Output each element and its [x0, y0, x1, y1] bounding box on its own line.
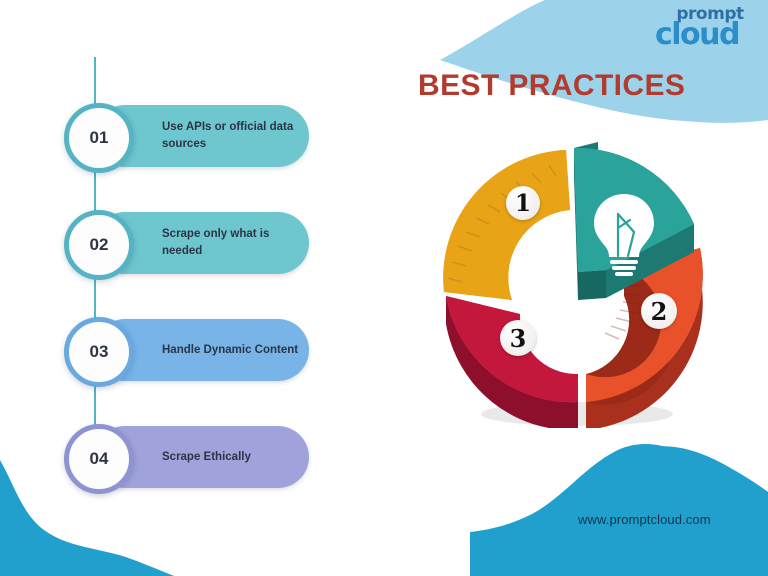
step-number-01: 01 — [64, 103, 134, 173]
step-item-02[interactable]: Scrape only what is needed 02 — [64, 212, 309, 274]
step-number-03: 03 — [64, 317, 134, 387]
gold-top-b — [443, 150, 570, 300]
step-item-03[interactable]: Handle Dynamic Content 03 — [64, 319, 309, 381]
step-number-04: 04 — [64, 424, 134, 494]
step-item-01[interactable]: Use APIs or official data sources 01 — [64, 105, 309, 167]
donut-badge-1: 1 — [506, 186, 540, 220]
step-label-04: Scrape Ethically — [162, 426, 302, 488]
bottom-right-wave — [470, 444, 768, 576]
crimson-segment-3 — [446, 296, 578, 428]
step-label-02: Scrape only what is needed — [162, 212, 302, 274]
donut-badge-3: 3 — [500, 320, 536, 356]
page-title: BEST PRACTICES — [418, 69, 718, 103]
step-label-01: Use APIs or official data sources — [162, 105, 302, 167]
infographic-canvas: prompt cloud BEST PRACTICES Use APIs or … — [0, 0, 768, 576]
donut-chart: 1 2 3 — [428, 128, 718, 428]
donut-badge-2: 2 — [641, 293, 677, 329]
step-number-02: 02 — [64, 210, 134, 280]
teal-side-bottom — [578, 270, 606, 300]
step-label-03: Handle Dynamic Content — [162, 319, 302, 381]
brand-logo[interactable]: prompt cloud — [641, 6, 753, 52]
step-item-04[interactable]: Scrape Ethically 04 — [64, 426, 309, 488]
logo-text-cloud: cloud — [641, 20, 753, 50]
gold-segment-1 — [443, 150, 570, 300]
footer-website-url[interactable]: www.promptcloud.com — [578, 512, 711, 527]
